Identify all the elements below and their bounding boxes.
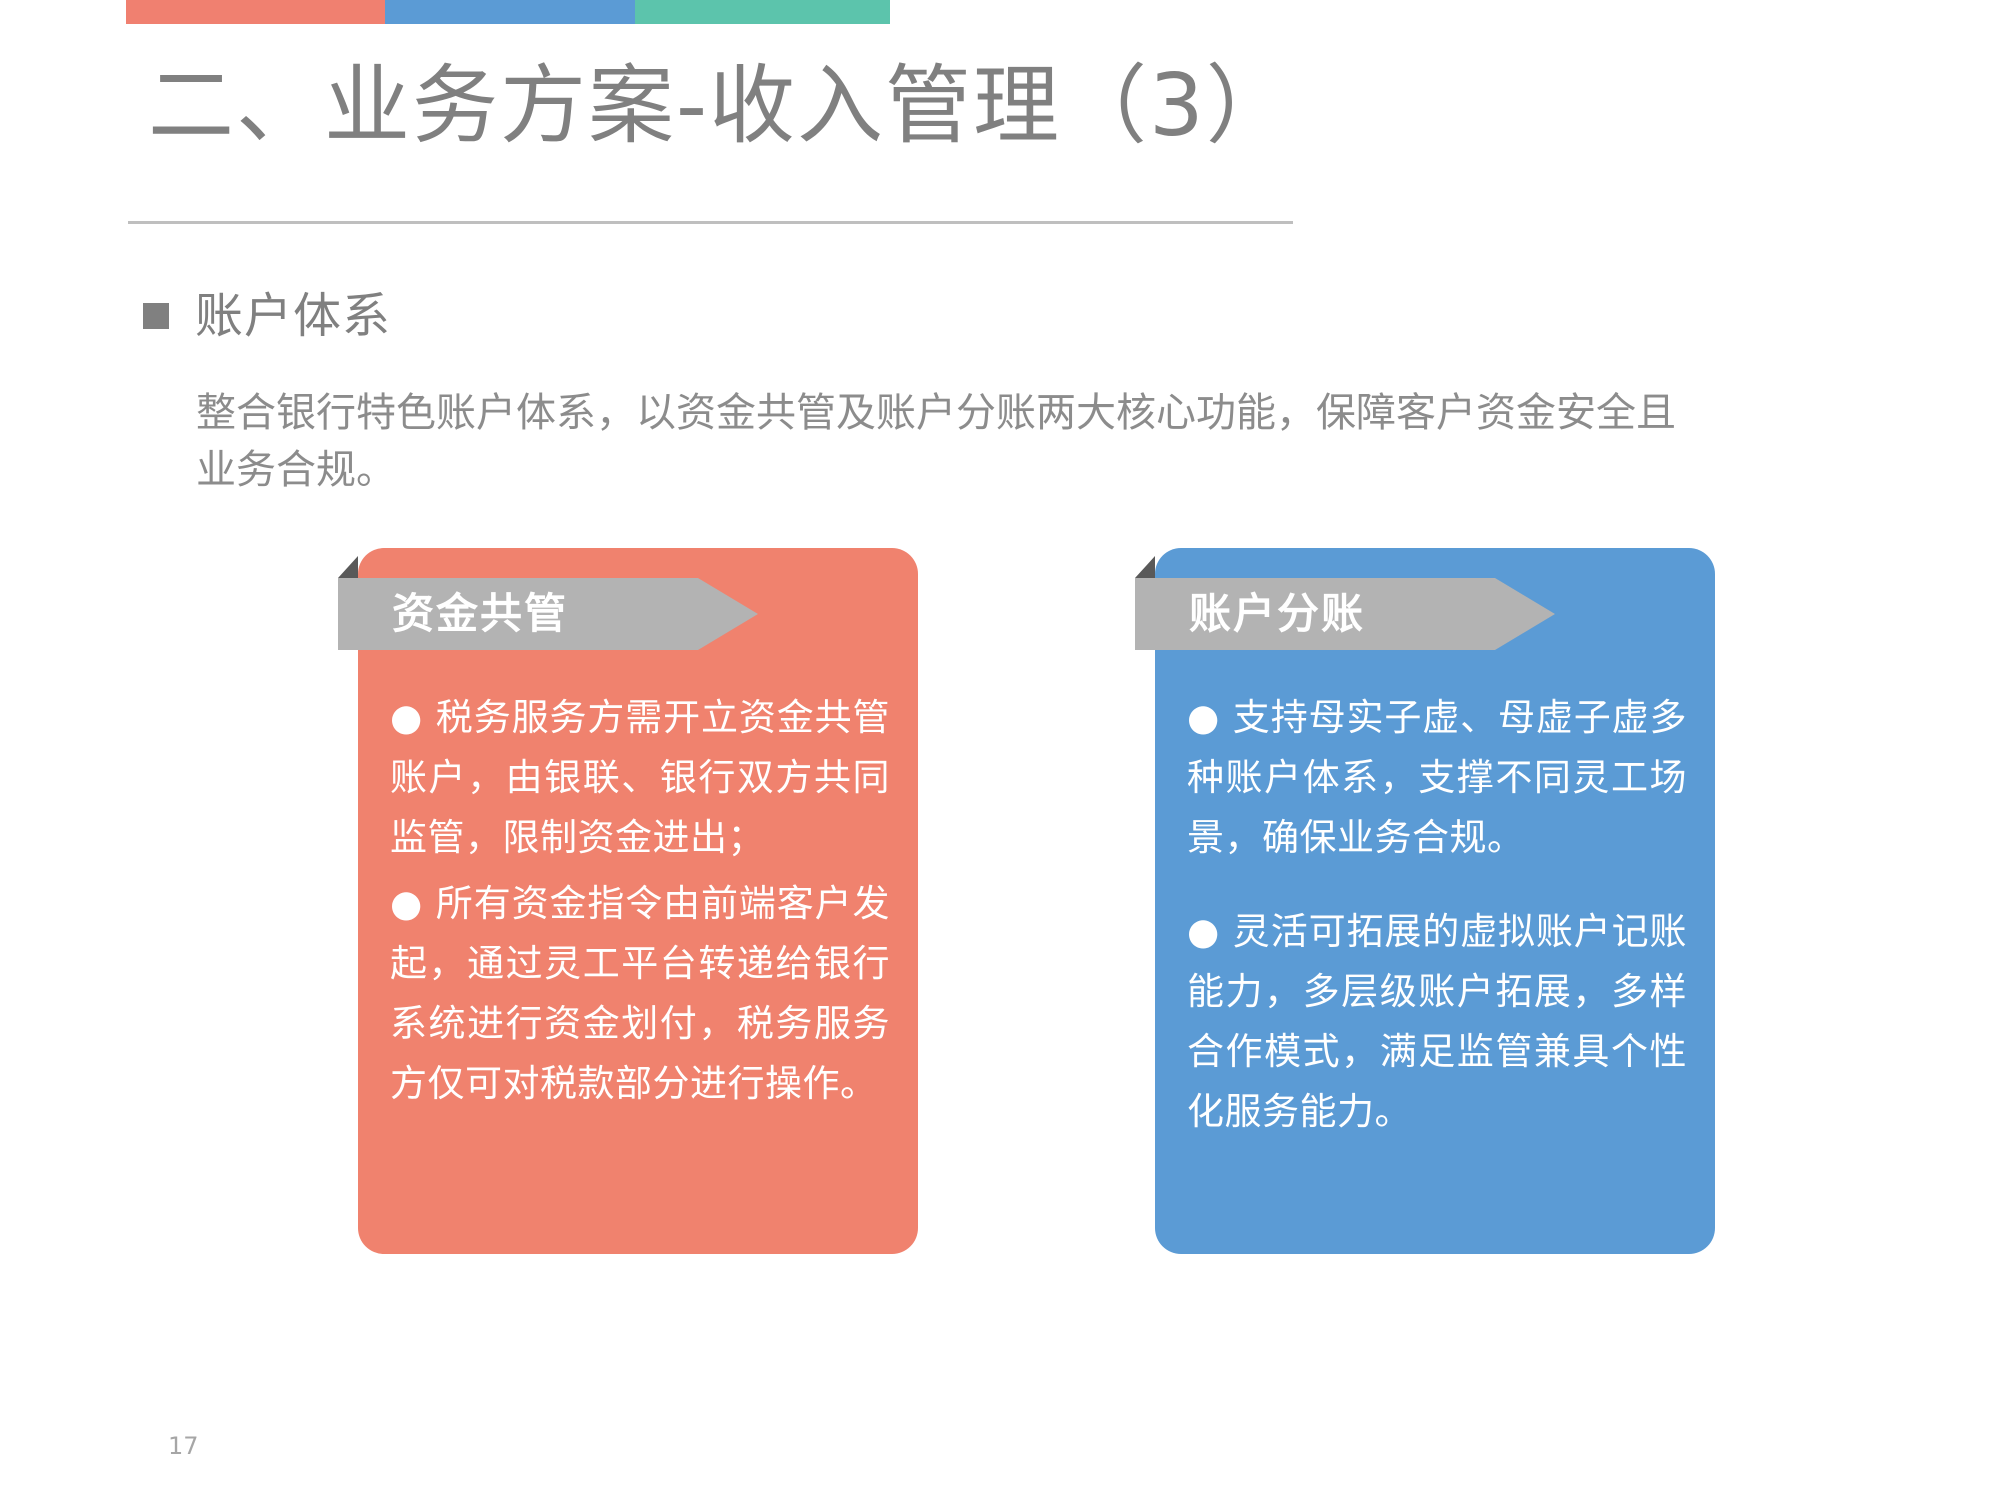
section-heading: 账户体系 xyxy=(143,292,391,340)
list-item: ● 税务服务方需开立资金共管账户，由银联、银行双方共同监管，限制资金进出； xyxy=(390,688,890,868)
card-fund-custody: 资金共管 ● 税务服务方需开立资金共管账户，由银联、银行双方共同监管，限制资金进… xyxy=(358,548,918,1254)
card-body-fund-custody: ● 税务服务方需开立资金共管账户，由银联、银行双方共同监管，限制资金进出； ● … xyxy=(390,688,890,1114)
card-banner-account-split: 账户分账 xyxy=(1135,578,1555,650)
list-item: ● 灵活可拓展的虚拟账户记账能力，多层级账户拓展，多样合作模式，满足监管兼具个性… xyxy=(1187,902,1687,1142)
page-number: 17 xyxy=(168,1434,199,1458)
card-banner-label: 资金共管 xyxy=(392,593,568,635)
list-item: ● 所有资金指令由前端客户发起，通过灵工平台转递给银行系统进行资金划付，税务服务… xyxy=(390,874,890,1114)
section-intro-text: 整合银行特色账户体系，以资金共管及账户分账两大核心功能，保障客户资金安全且业务合… xyxy=(196,385,1706,499)
page-title: 二、业务方案-收入管理（3） xyxy=(148,58,1294,154)
accent-bar xyxy=(126,0,890,24)
title-divider xyxy=(128,221,1293,224)
card-banner-fund-custody: 资金共管 xyxy=(338,578,758,650)
card-banner-label: 账户分账 xyxy=(1189,593,1365,635)
ribbon-fold-icon xyxy=(338,556,358,578)
ribbon-fold-icon xyxy=(1135,556,1155,578)
card-account-split: 账户分账 ● 支持母实子虚、母虚子虚多种账户体系，支撑不同灵工场景，确保业务合规… xyxy=(1155,548,1715,1254)
section-heading-label: 账户体系 xyxy=(195,292,391,340)
accent-bar-segment-coral xyxy=(126,0,385,24)
card-body-account-split: ● 支持母实子虚、母虚子虚多种账户体系，支撑不同灵工场景，确保业务合规。 ● 灵… xyxy=(1187,688,1687,1142)
list-item: ● 支持母实子虚、母虚子虚多种账户体系，支撑不同灵工场景，确保业务合规。 xyxy=(1187,688,1687,868)
accent-bar-segment-green xyxy=(635,0,890,24)
square-bullet-icon xyxy=(143,303,169,329)
accent-bar-segment-blue xyxy=(385,0,635,24)
